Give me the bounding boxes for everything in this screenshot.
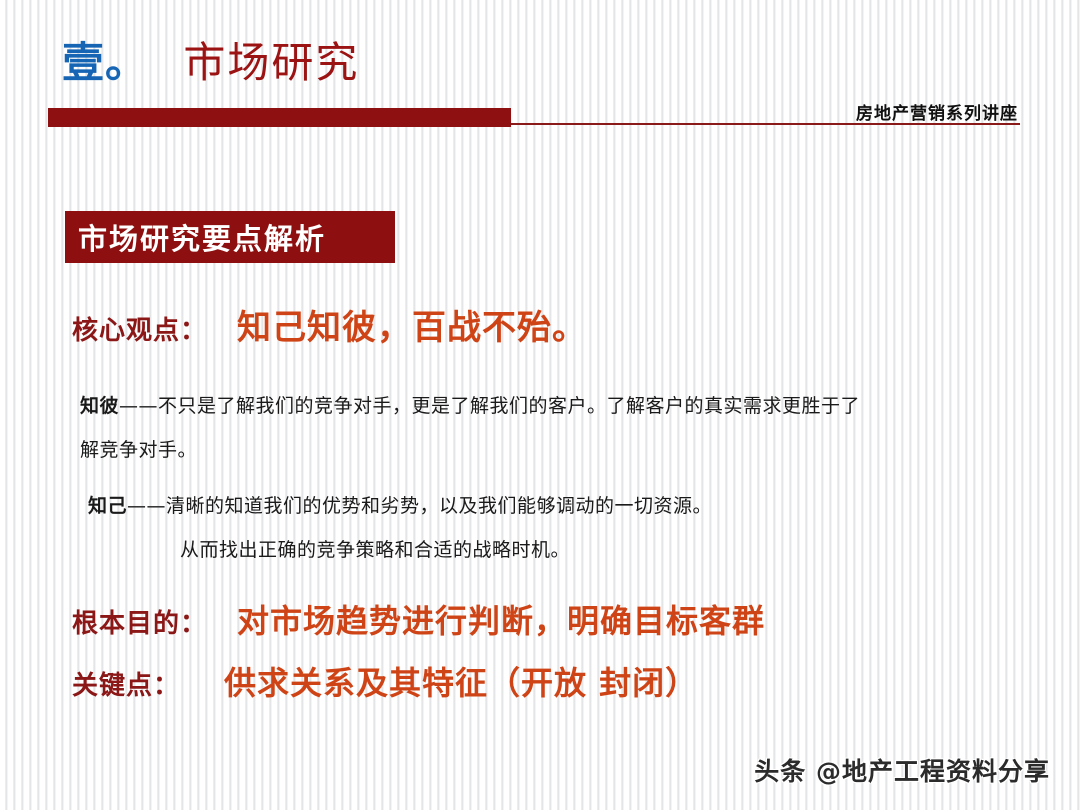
key-point-row: 关键点： 供求关系及其特征（开放 封闭） [72, 658, 698, 704]
root-purpose-label: 根本目的： [72, 603, 207, 640]
watermark-label: 头条 @地产工程资料分享 [754, 752, 1050, 788]
key-point-label: 关键点： [72, 665, 180, 702]
section-banner-label: 市场研究要点解析 [65, 216, 326, 258]
paragraph-zhibi-term: 知彼 [80, 395, 119, 417]
paragraph-zhiji: 知己——清晰的知道我们的优势和劣势，以及我们能够调动的一切资源。 从而找出正确的… [88, 484, 878, 572]
root-purpose-row: 根本目的： 对市场趋势进行判断，明确目标客群 [72, 596, 765, 642]
core-viewpoint-value: 知己知彼，百战不殆。 [237, 300, 587, 349]
paragraph-zhibi-body: ——不只是了解我们的竞争对手，更是了解我们的客户。了解客户的真实需求更胜于了解竞… [80, 395, 860, 461]
page-title-number: 壹。 [62, 38, 148, 87]
root-purpose-value: 对市场趋势进行判断，明确目标客群 [237, 596, 765, 642]
page-title: 壹。 市场研究 [62, 42, 359, 84]
paragraph-zhiji-body-line2: 从而找出正确的竞争策略和合适的战略时机。 [88, 528, 878, 572]
core-viewpoint-row: 核心观点： 知己知彼，百战不殆。 [72, 300, 587, 349]
header-accent-bar [48, 108, 511, 127]
key-point-value: 供求关系及其特征（开放 封闭） [224, 658, 698, 704]
section-banner: 市场研究要点解析 [65, 211, 395, 263]
series-label: 房地产营销系列讲座 [856, 99, 1018, 124]
page-title-text: 市场研究 [183, 38, 359, 87]
paragraph-zhibi: 知彼——不只是了解我们的竞争对手，更是了解我们的客户。了解客户的真实需求更胜于了… [80, 384, 870, 472]
core-viewpoint-label: 核心观点： [72, 310, 207, 347]
paragraph-zhiji-term: 知己 [88, 495, 127, 517]
slide-canvas: 壹。 市场研究 房地产营销系列讲座 市场研究要点解析 核心观点： 知己知彼，百战… [0, 0, 1080, 810]
slide-header: 壹。 市场研究 房地产营销系列讲座 [0, 0, 1080, 140]
paragraph-zhiji-body: ——清晰的知道我们的优势和劣势，以及我们能够调动的一切资源。 [127, 495, 712, 517]
